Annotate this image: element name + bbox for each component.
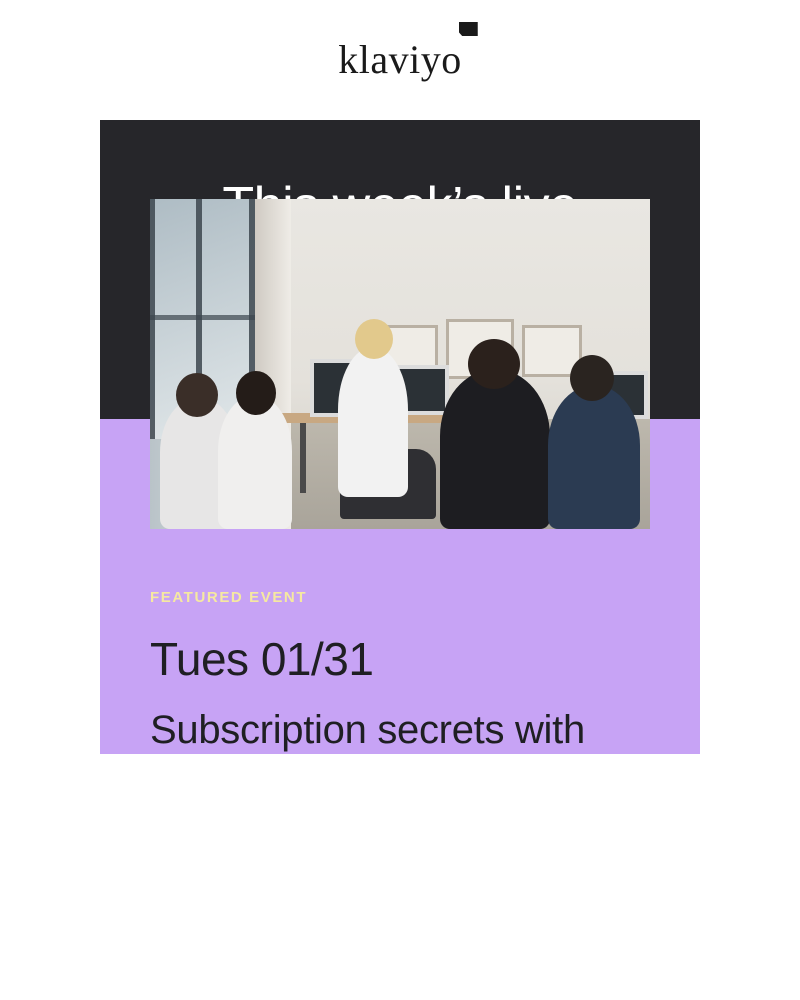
email-content-column: This week’s live training schedule See w…	[100, 120, 700, 1000]
flag-icon	[459, 22, 478, 36]
email-body: klaviyo This week’s live training schedu…	[0, 0, 800, 1000]
featured-event-section: FEATURED EVENT Tues 01/31 Subscription s…	[100, 419, 700, 754]
photo-person-4-head	[468, 339, 520, 389]
featured-event-kicker: FEATURED EVENT	[150, 589, 650, 606]
featured-event-copy: FEATURED EVENT Tues 01/31 Subscription s…	[100, 419, 700, 754]
featured-event-date: Tues 01/31	[150, 634, 650, 684]
logo-wordmark: klaviyo	[338, 37, 461, 82]
featured-event-title: Subscription secrets with	[150, 706, 650, 754]
klaviyo-logo[interactable]: klaviyo	[338, 40, 461, 80]
photo-person-5-head	[570, 355, 614, 401]
photo-person-1-head	[176, 373, 218, 417]
photo-person-3-head	[355, 319, 393, 359]
logo-header: klaviyo	[0, 0, 800, 120]
photo-person-2-head	[236, 371, 276, 415]
